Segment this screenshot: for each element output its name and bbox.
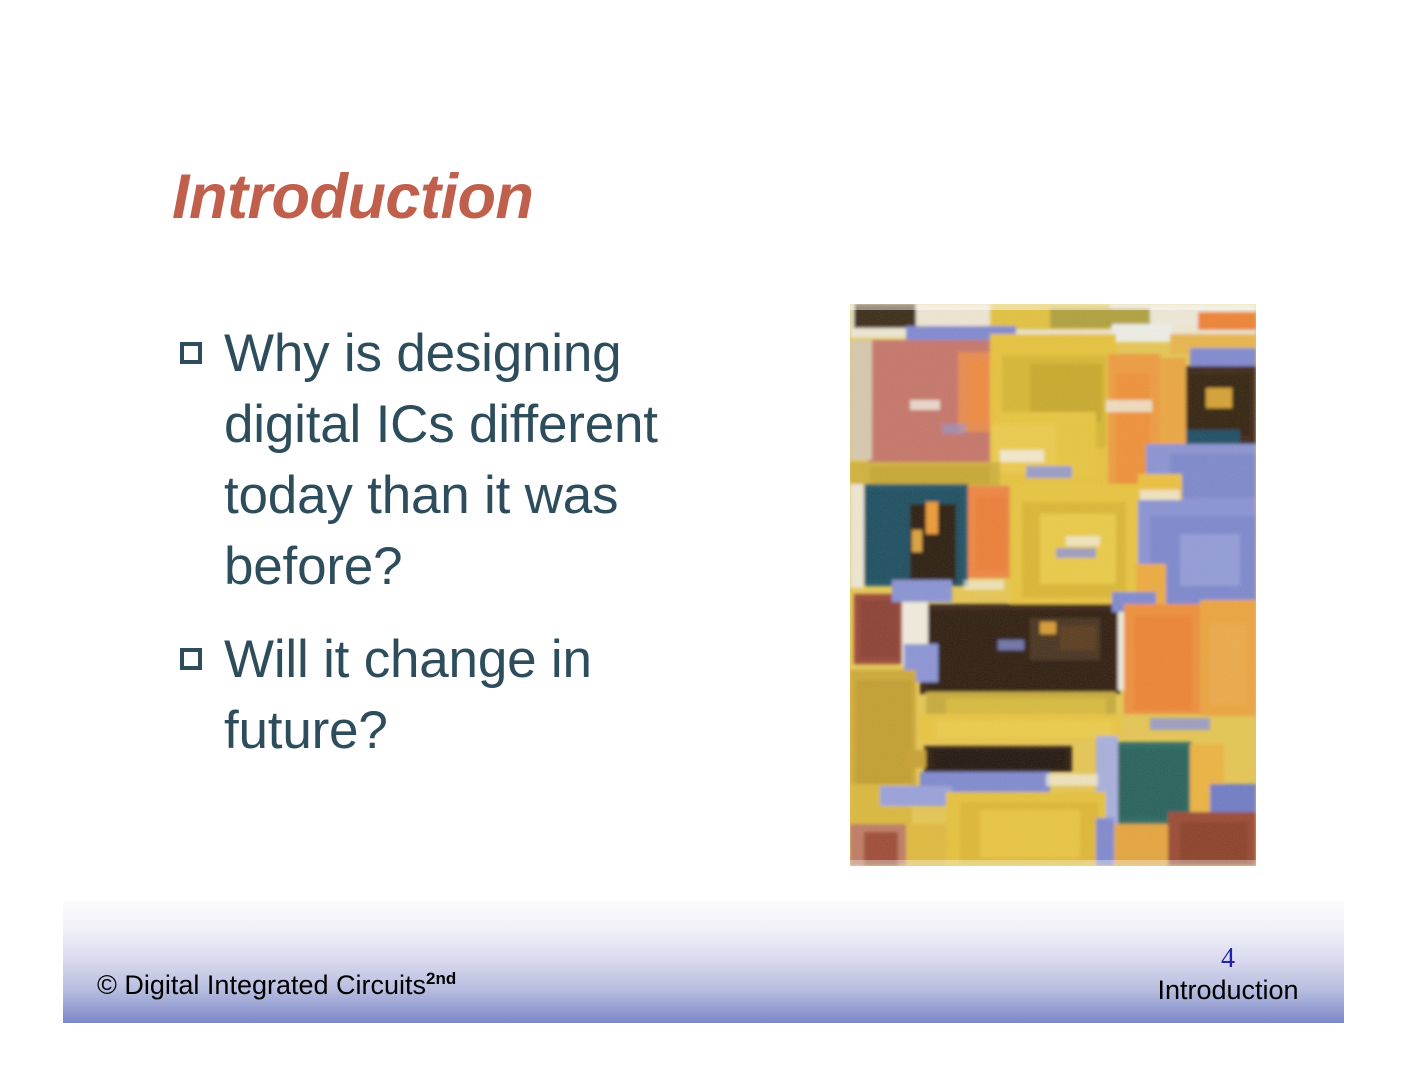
bullet-text: Will it change in future?: [224, 624, 736, 766]
presentation-slide: Introduction Why is designing digital IC…: [0, 0, 1408, 1088]
abstract-painting-image: [850, 304, 1256, 866]
slide-title: Introduction: [172, 164, 533, 230]
footer-section-label: Introduction: [1110, 974, 1346, 1007]
copyright-text: © Digital Integrated Circuits: [97, 970, 426, 1000]
edition-superscript: 2nd: [426, 969, 456, 988]
footer-right-group: 4 Introduction: [1110, 944, 1346, 1007]
footer-copyright: © Digital Integrated Circuits2nd: [97, 972, 456, 999]
page-number: 4: [1110, 944, 1346, 974]
hollow-square-bullet-icon: [180, 342, 202, 364]
bullet-text: Why is designing digital ICs different t…: [224, 318, 736, 602]
hollow-square-bullet-icon: [180, 648, 202, 670]
bullet-list: Why is designing digital ICs different t…: [176, 318, 736, 766]
abstract-painting-svg: [850, 304, 1256, 866]
list-item: Will it change in future?: [176, 624, 736, 766]
list-item: Why is designing digital ICs different t…: [176, 318, 736, 602]
